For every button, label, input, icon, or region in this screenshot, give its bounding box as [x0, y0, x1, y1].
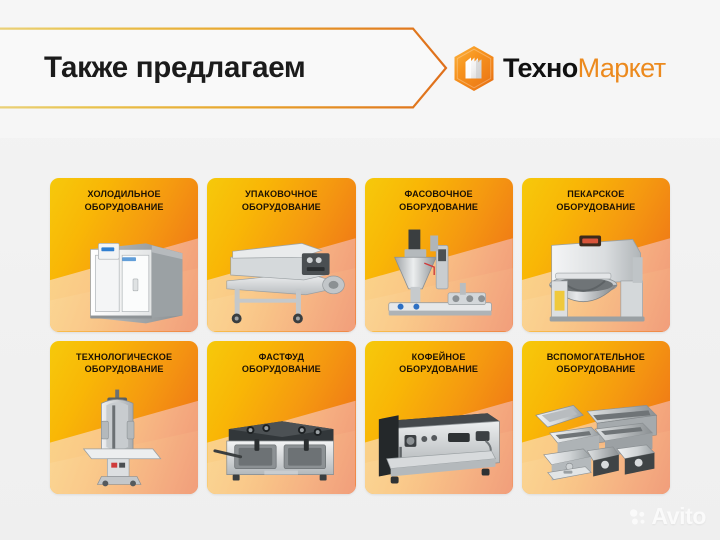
- header-banner: Также предлагаем: [0, 27, 448, 109]
- cold-room-chamber-image: [50, 218, 198, 328]
- espresso-coffee-machine-image: [365, 381, 513, 491]
- bone-band-saw-image: [50, 381, 198, 491]
- logo-text-secondary: Маркет: [578, 53, 666, 83]
- tile-label: ХОЛОДИЛЬНОЕ ОБОРУДОВАНИЕ: [54, 188, 194, 213]
- tile-label-line1: УПАКОВОЧНОЕ: [211, 188, 351, 201]
- logo-wordmark: ТехноМаркет: [503, 55, 665, 82]
- hexagon-technomarket-icon: [452, 45, 496, 92]
- page-root: Также предлагаем: [0, 0, 720, 540]
- header: Также предлагаем: [0, 0, 720, 138]
- tile-label-line2: ОБОРУДОВАНИЕ: [369, 363, 509, 376]
- tile-label-line2: ОБОРУДОВАНИЕ: [526, 363, 666, 376]
- shrink-wrap-packaging-machine-image: [207, 218, 355, 328]
- tile-label-line2: ОБОРУДОВАНИЕ: [54, 363, 194, 376]
- category-tile-bakery[interactable]: ПЕКАРСКОЕ ОБОРУДОВАНИЕ: [522, 178, 670, 332]
- double-deep-fryer-image: [207, 381, 355, 491]
- tile-label-line1: ТЕХНОЛОГИЧЕСКОЕ: [54, 351, 194, 364]
- category-tile-fastfood[interactable]: ФАСТФУД ОБОРУДОВАНИЕ: [207, 341, 355, 495]
- category-tile-filling[interactable]: ФАСОВОЧНОЕ ОБОРУДОВАНИЕ: [365, 178, 513, 332]
- tile-label-line1: КОФЕЙНОЕ: [369, 351, 509, 364]
- logo-text-primary: Техно: [503, 53, 578, 83]
- tile-label: КОФЕЙНОЕ ОБОРУДОВАНИЕ: [369, 351, 509, 376]
- category-tile-coffee[interactable]: КОФЕЙНОЕ ОБОРУДОВАНИЕ: [365, 341, 513, 495]
- page-title: Также предлагаем: [44, 27, 305, 109]
- avito-watermark: Avito: [629, 505, 706, 528]
- filling-dosing-machine-image: [365, 218, 513, 328]
- tile-label-line1: ХОЛОДИЛЬНОЕ: [54, 188, 194, 201]
- brand-logo[interactable]: ТехноМаркет: [452, 40, 665, 96]
- category-tile-refrigeration[interactable]: ХОЛОДИЛЬНОЕ ОБОРУДОВАНИЕ: [50, 178, 198, 332]
- category-tile-packaging[interactable]: УПАКОВОЧНОЕ ОБОРУДОВАНИЕ: [207, 178, 355, 332]
- tile-label: ФАСОВОЧНОЕ ОБОРУДОВАНИЕ: [369, 188, 509, 213]
- category-tile-technological[interactable]: ТЕХНОЛОГИЧЕСКОЕ ОБОРУДОВАНИЕ: [50, 341, 198, 495]
- tile-label: ВСПОМОГАТЕЛЬНОЕ ОБОРУДОВАНИЕ: [526, 351, 666, 376]
- tile-label-line2: ОБОРУДОВАНИЕ: [54, 201, 194, 214]
- spiral-dough-mixer-image: [522, 218, 670, 328]
- avito-wordmark: Avito: [651, 505, 706, 528]
- category-tile-auxiliary[interactable]: ВСПОМОГАТЕЛЬНОЕ ОБОРУДОВАНИЕ: [522, 341, 670, 495]
- tile-label-line1: ПЕКАРСКОЕ: [526, 188, 666, 201]
- gastronorm-trays-stack-image: [522, 381, 670, 491]
- tile-label: ПЕКАРСКОЕ ОБОРУДОВАНИЕ: [526, 188, 666, 213]
- tile-label-line1: ФАСОВОЧНОЕ: [369, 188, 509, 201]
- tile-label: УПАКОВОЧНОЕ ОБОРУДОВАНИЕ: [211, 188, 351, 213]
- tile-label-line2: ОБОРУДОВАНИЕ: [526, 201, 666, 214]
- avito-dots-icon: [629, 508, 647, 526]
- tile-label-line1: ВСПОМОГАТЕЛЬНОЕ: [526, 351, 666, 364]
- tile-label-line2: ОБОРУДОВАНИЕ: [211, 363, 351, 376]
- tile-label-line2: ОБОРУДОВАНИЕ: [211, 201, 351, 214]
- category-grid: ХОЛОДИЛЬНОЕ ОБОРУДОВАНИЕ: [50, 178, 670, 494]
- tile-label: ТЕХНОЛОГИЧЕСКОЕ ОБОРУДОВАНИЕ: [54, 351, 194, 376]
- tile-label-line1: ФАСТФУД: [211, 351, 351, 364]
- tile-label: ФАСТФУД ОБОРУДОВАНИЕ: [211, 351, 351, 376]
- tile-label-line2: ОБОРУДОВАНИЕ: [369, 201, 509, 214]
